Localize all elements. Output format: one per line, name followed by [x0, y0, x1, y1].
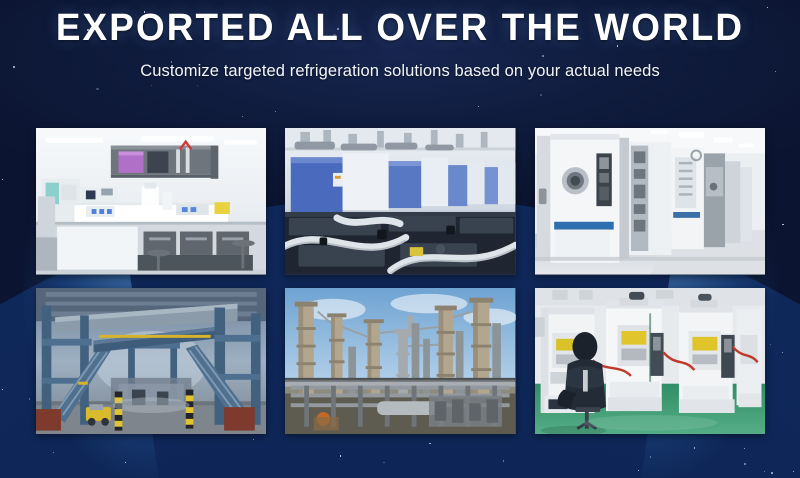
- page-title: EXPORTED ALL OVER THE WORLD: [12, 6, 788, 50]
- gallery-item-vacuum-coating-chambers[interactable]: Corridor lined with white vacuum coating…: [535, 128, 765, 275]
- photo-press-workshop: [535, 288, 765, 435]
- gallery-item-steel-mill-interior[interactable]: Steel mill interior with blue structural…: [36, 288, 266, 435]
- photo-vacuum-chambers: [535, 128, 765, 275]
- gallery-item-press-machine-workshop[interactable]: Press machine workshop with green epoxy …: [535, 288, 765, 435]
- gallery-item-production-line-machines[interactable]: Row of blue and white industrial product…: [285, 128, 515, 275]
- gallery-item-petrochemical-refinery[interactable]: Petrochemical refinery with distillation…: [285, 288, 515, 435]
- photo-refinery: [285, 288, 515, 435]
- photo-laboratory: [36, 128, 266, 275]
- photo-steel-mill: [36, 288, 266, 435]
- gallery-item-laboratory-cleanroom[interactable]: White laboratory cleanroom with lab benc…: [36, 128, 266, 275]
- photo-gallery-grid: White laboratory cleanroom with lab benc…: [36, 128, 765, 434]
- banner-root: EXPORTED ALL OVER THE WORLD Customize ta…: [0, 0, 800, 478]
- photo-production-line: [285, 128, 515, 275]
- page-subtitle: Customize targeted refrigeration solutio…: [0, 60, 800, 82]
